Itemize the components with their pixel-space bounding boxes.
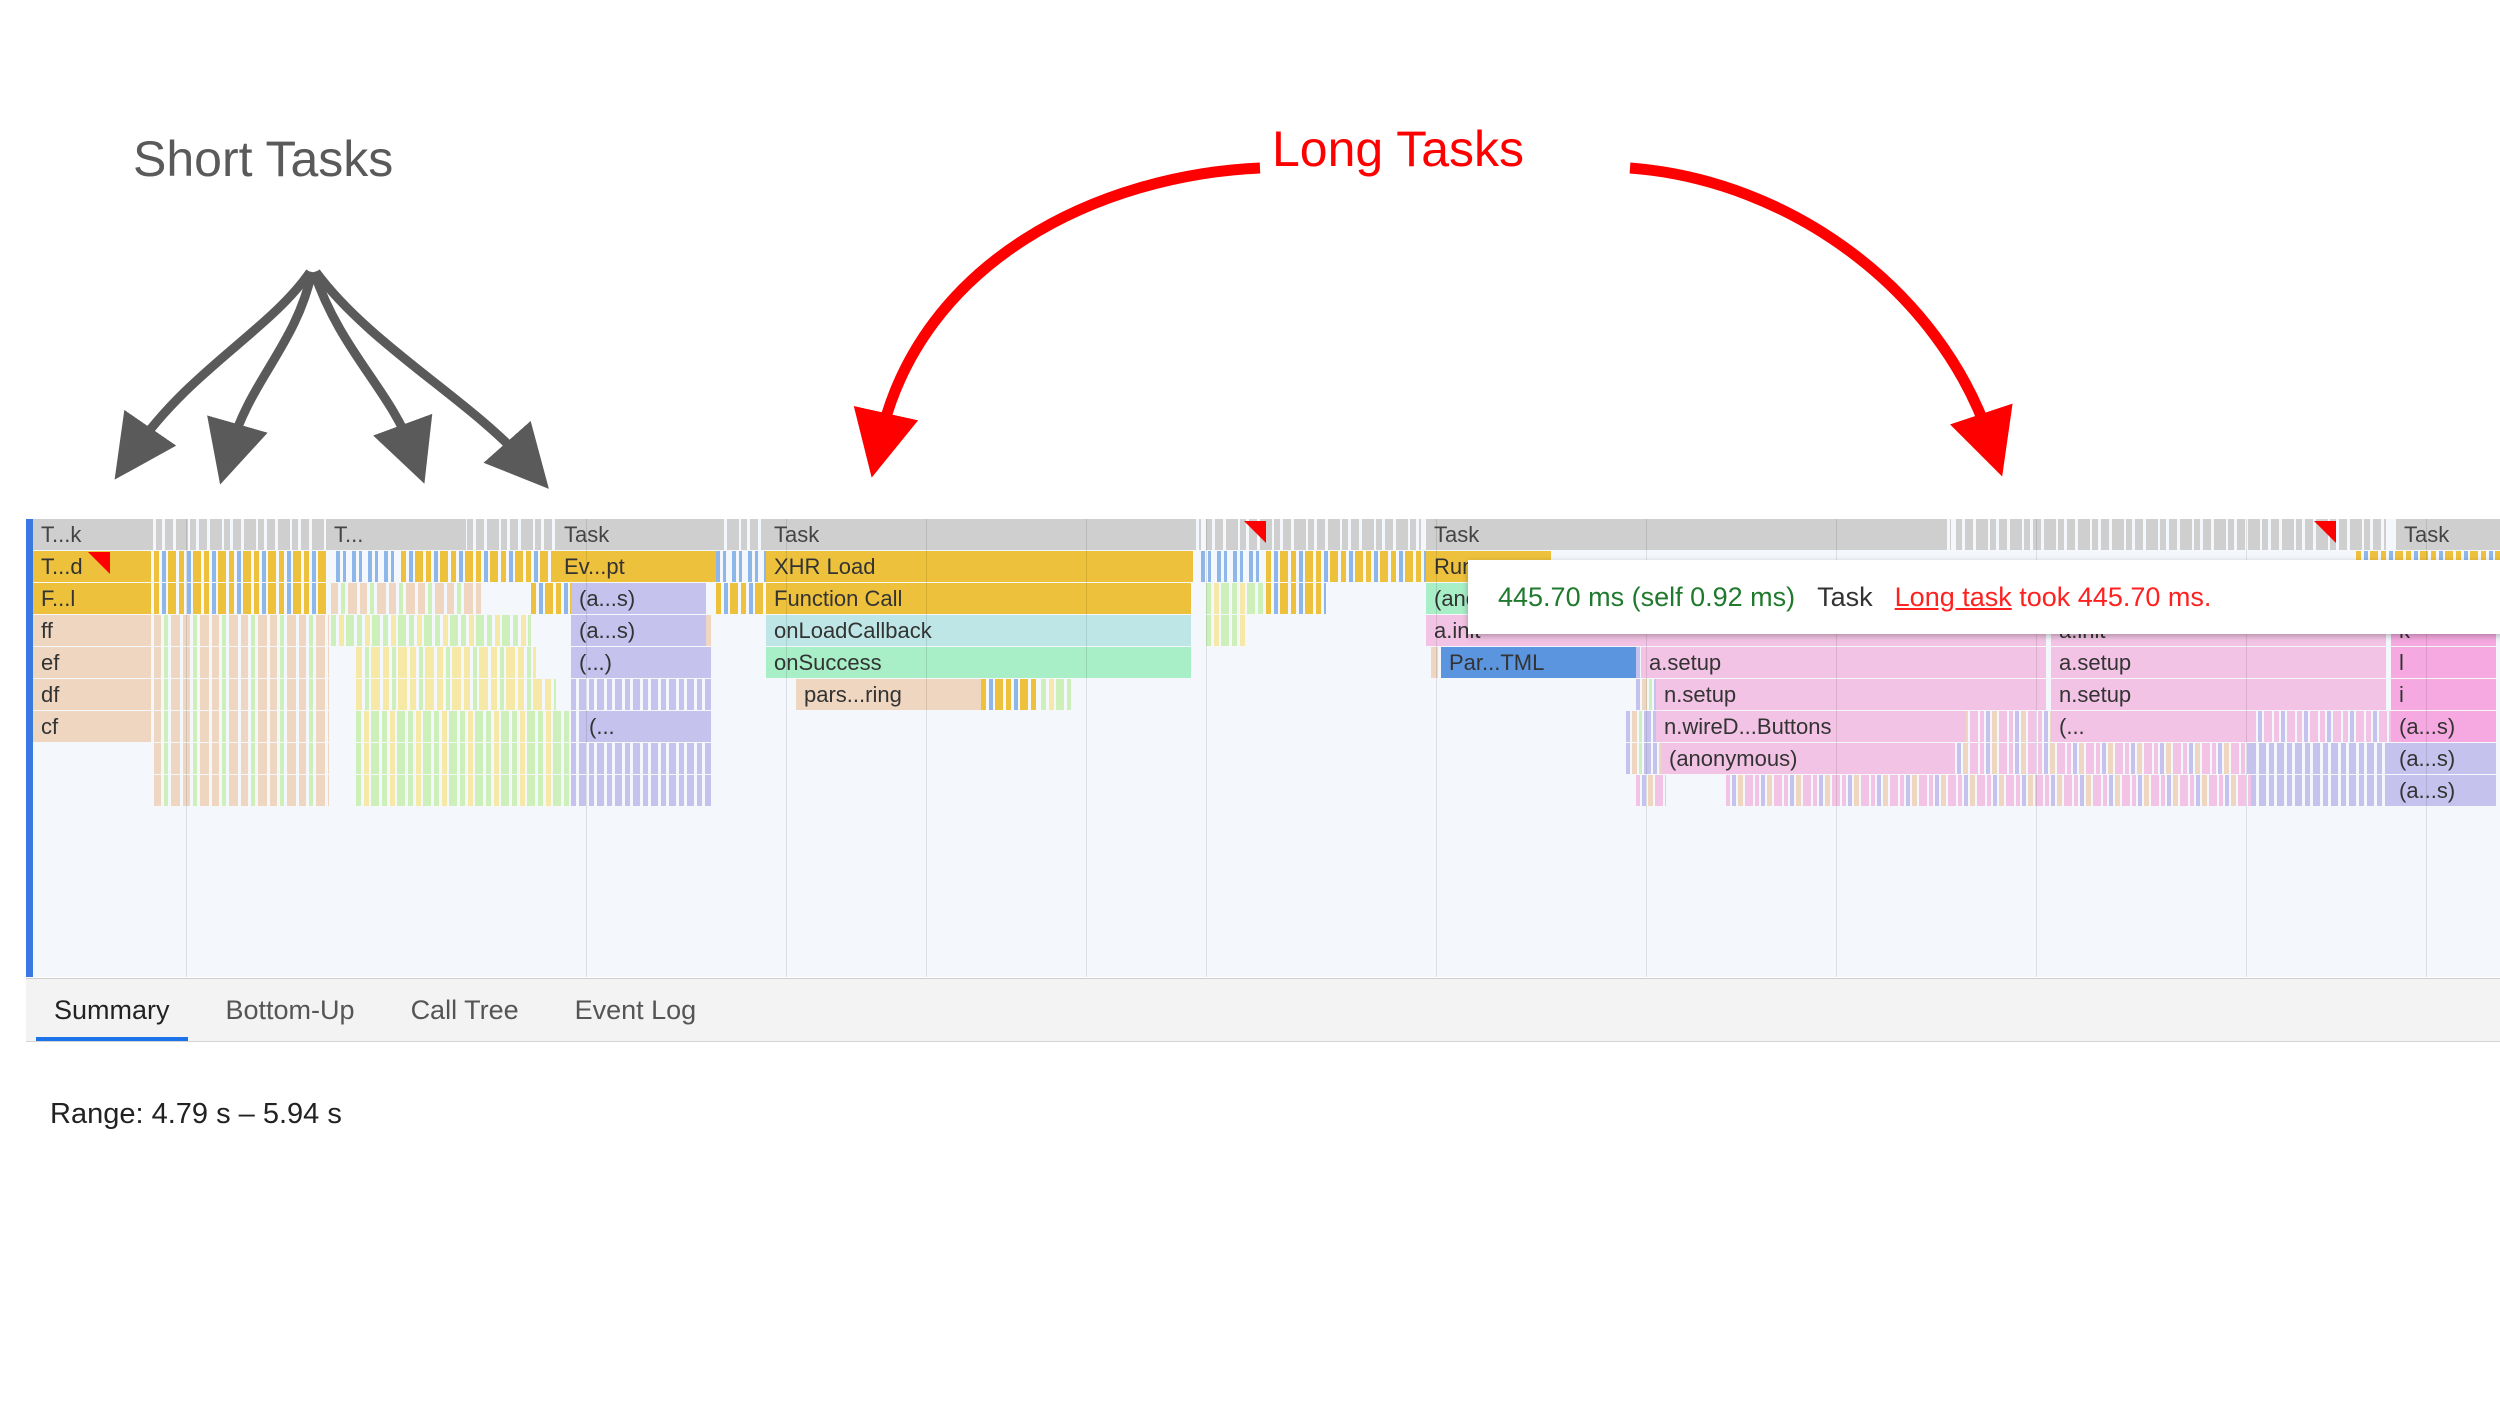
track-left-edge-marker: [26, 519, 33, 977]
flame-chart-block[interactable]: (...): [571, 647, 706, 678]
micro-task-stripes: [401, 551, 556, 582]
flame-chart-block[interactable]: n.setup: [1656, 679, 2046, 710]
micro-task-stripes: [981, 679, 1036, 710]
micro-task-stripes: [154, 711, 329, 742]
flame-chart-row[interactable]: dfpars...ringn.setupn.setupi: [26, 679, 2500, 711]
flame-chart-block[interactable]: (a...s): [2391, 743, 2496, 774]
timeline-gridline: [1086, 519, 1087, 977]
micro-task-stripes: [1206, 583, 1266, 614]
micro-task-stripes: [154, 679, 329, 710]
micro-task-stripes: [2251, 711, 2391, 742]
long-task-marker-2[interactable]: [1244, 521, 1266, 543]
micro-task-stripes: [571, 743, 711, 774]
flame-chart-block[interactable]: ef: [33, 647, 151, 678]
micro-task-stripes: [1201, 551, 1261, 582]
flame-chart-block[interactable]: (a...s): [571, 615, 706, 646]
tooltip-warning-rest: took 445.70 ms.: [2012, 582, 2212, 612]
flame-chart-block[interactable]: F...l: [33, 583, 151, 614]
flame-chart-row[interactable]: (a...s): [26, 775, 2500, 807]
micro-task-stripes: [331, 615, 531, 646]
micro-task-stripes: [571, 775, 711, 806]
event-tooltip: 445.70 ms (self 0.92 ms) Task Long task …: [1468, 560, 2500, 634]
micro-task-stripes: [356, 647, 536, 678]
flame-chart-block[interactable]: i: [2391, 679, 2496, 710]
micro-task-stripes: [336, 551, 396, 582]
flame-chart-block[interactable]: Task: [766, 519, 1196, 550]
micro-task-stripes: [154, 647, 329, 678]
timeline-gridline: [186, 519, 187, 977]
flame-chart-block[interactable]: cf: [33, 711, 151, 742]
micro-task-stripes: [356, 679, 556, 710]
flame-chart-block[interactable]: Function Call: [766, 583, 1191, 614]
micro-task-stripes: [1636, 775, 1666, 806]
flame-chart-block[interactable]: (a...s): [571, 583, 706, 614]
timeline-gridline: [786, 519, 787, 977]
micro-task-stripes: [356, 743, 586, 774]
micro-task-stripes: [716, 583, 766, 614]
flame-chart-block[interactable]: onSuccess: [766, 647, 1191, 678]
tab-summary[interactable]: Summary: [26, 979, 198, 1041]
micro-task-stripes: [154, 551, 329, 582]
micro-task-stripes: [356, 775, 596, 806]
timeline-gridline: [1206, 519, 1207, 977]
flame-chart-block[interactable]: n.wireD...Buttons: [1656, 711, 1966, 742]
tooltip-warning-link: Long task: [1895, 582, 2012, 612]
flame-chart-block[interactable]: (...: [581, 711, 706, 742]
flame-chart-block[interactable]: T...: [326, 519, 466, 550]
flame-chart-block[interactable]: XHR Load: [766, 551, 1191, 582]
micro-task-stripes: [154, 775, 329, 806]
micro-task-stripes: [716, 551, 766, 582]
flame-chart-block[interactable]: onLoadCallback: [766, 615, 1191, 646]
flame-chart-block[interactable]: (a...s): [2391, 775, 2496, 806]
flame-chart-block[interactable]: Task: [556, 519, 716, 550]
flame-chart-block[interactable]: pars...ring: [796, 679, 981, 710]
flame-chart-block[interactable]: Par...TML: [1441, 647, 1636, 678]
flame-chart-block[interactable]: Task: [1426, 519, 1946, 550]
long-tasks-arrows: [880, 168, 1990, 440]
long-task-marker-1[interactable]: [88, 552, 110, 574]
flame-chart-block[interactable]: ff: [33, 615, 151, 646]
timeline-gridline: [586, 519, 587, 977]
micro-task-stripes: [356, 711, 576, 742]
micro-task-stripes: [2251, 743, 2391, 774]
long-task-marker-3[interactable]: [2314, 521, 2336, 543]
flame-chart-block[interactable]: df: [33, 679, 151, 710]
flame-chart-row[interactable]: ef(...)onSuccessPar...TMLa.setupa.setupl: [26, 647, 2500, 679]
flame-chart-block[interactable]: T...k: [33, 519, 153, 550]
flame-chart-block[interactable]: a.setup: [1641, 647, 2046, 678]
micro-task-stripes: [1041, 679, 1071, 710]
micro-task-stripes: [1266, 551, 1436, 582]
micro-task-stripes: [331, 583, 481, 614]
long-tasks-annotation-label: Long Tasks: [1272, 120, 1524, 178]
flame-chart-block[interactable]: Ev...pt: [556, 551, 711, 582]
micro-task-stripes: [156, 519, 326, 550]
flame-chart-row[interactable]: cf(...n.wireD...Buttons(...(a...s): [26, 711, 2500, 743]
flame-chart-block[interactable]: a.setup: [2051, 647, 2386, 678]
short-tasks-annotation-label: Short Tasks: [133, 130, 393, 188]
tooltip-duration: 445.70 ms (self 0.92 ms): [1498, 582, 1795, 613]
micro-task-stripes: [154, 615, 329, 646]
micro-task-stripes: [2251, 775, 2391, 806]
micro-task-stripes: [571, 679, 711, 710]
flame-chart-row[interactable]: (anonymous)(a...s): [26, 743, 2500, 775]
micro-task-stripes: [1206, 615, 1246, 646]
timeline-gridline: [1436, 519, 1437, 977]
micro-task-stripes: [1266, 583, 1326, 614]
tab-call-tree[interactable]: Call Tree: [383, 979, 547, 1041]
flame-chart-block[interactable]: (...: [2051, 711, 2251, 742]
timeline-gridline: [926, 519, 927, 977]
flame-chart-block[interactable]: l: [2391, 647, 2496, 678]
micro-task-stripes: [154, 583, 329, 614]
flame-chart-block[interactable]: Task: [2396, 519, 2500, 550]
micro-task-stripes: [154, 743, 329, 774]
flame-chart-block[interactable]: n.setup: [2051, 679, 2386, 710]
micro-task-stripes: [1206, 519, 1421, 550]
flame-chart-block[interactable]: (a...s): [2391, 711, 2496, 742]
summary-range-text: Range: 4.79 s – 5.94 s: [50, 1098, 342, 1131]
tab-event-log[interactable]: Event Log: [547, 979, 725, 1041]
micro-task-stripes: [1626, 743, 1661, 774]
tooltip-kind: Task: [1817, 582, 1873, 613]
details-tab-bar[interactable]: SummaryBottom-UpCall TreeEvent Log: [26, 978, 2500, 1042]
short-tasks-arrows: [135, 272, 525, 462]
tooltip-warning: Long task took 445.70 ms.: [1895, 582, 2212, 613]
tab-bottom-up[interactable]: Bottom-Up: [198, 979, 383, 1041]
flame-chart-block[interactable]: (anonymous): [1661, 743, 1951, 774]
